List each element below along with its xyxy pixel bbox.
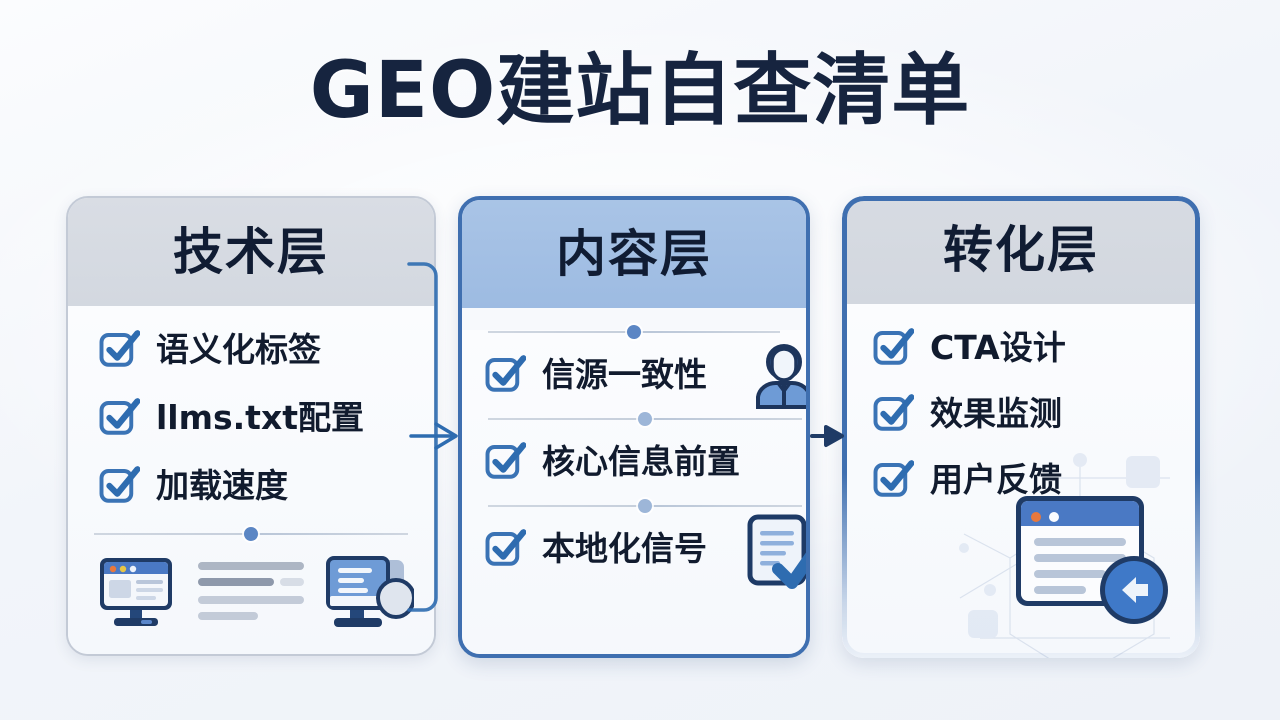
checklist-item[interactable]: 核心信息前置 xyxy=(484,440,806,482)
checklist-item-label: 信源一致性 xyxy=(542,358,707,391)
text-lines-icon xyxy=(198,560,308,622)
divider-dot xyxy=(627,325,641,339)
card-tech-divider xyxy=(94,532,408,535)
card-content-title: 内容层 xyxy=(556,229,712,279)
browser-monitor-icon xyxy=(94,554,178,634)
divider-dot xyxy=(638,499,652,513)
card-tech-illustrations xyxy=(94,550,414,636)
checklist-item[interactable]: 语义化标签 xyxy=(98,328,434,370)
card-content-body: 信源一致性 xyxy=(462,330,806,658)
checkbox-checked-icon[interactable] xyxy=(98,396,140,438)
checkbox-checked-icon[interactable] xyxy=(484,440,526,482)
document-check-icon xyxy=(744,513,810,593)
checklist-item[interactable]: 效果监测 xyxy=(872,392,1200,434)
checklist-item-label: 核心信息前置 xyxy=(542,445,740,478)
page-title-wrap: GEO建站自查清单 xyxy=(0,52,1280,130)
checklist-item-label: 本地化信号 xyxy=(542,532,707,565)
checklist-item[interactable]: 本地化信号 xyxy=(484,527,806,569)
checkbox-checked-icon[interactable] xyxy=(98,328,140,370)
checklist-item-label: 效果监测 xyxy=(930,397,1062,430)
cards-row: 技术层 语义化标签 llms.txt配置 xyxy=(0,196,1280,666)
checkbox-checked-icon[interactable] xyxy=(98,464,140,506)
card-conversion-title: 转化层 xyxy=(943,225,1099,275)
checkbox-checked-icon[interactable] xyxy=(484,353,526,395)
checklist-item-label: 语义化标签 xyxy=(156,333,321,366)
divider-dot xyxy=(638,412,652,426)
card-conversion-body: CTA设计 效果监测 用户反馈 xyxy=(842,304,1200,658)
card-conversion-layer[interactable]: 转化层 CTA设计 效果监测 xyxy=(842,196,1200,658)
checklist-item[interactable]: CTA设计 xyxy=(872,326,1200,368)
card-conversion-header: 转化层 xyxy=(842,196,1200,304)
checklist-item[interactable]: 加载速度 xyxy=(98,464,434,506)
checkbox-checked-icon[interactable] xyxy=(872,392,914,434)
card-tech-layer[interactable]: 技术层 语义化标签 llms.txt配置 xyxy=(66,196,436,656)
checklist-item[interactable]: 用户反馈 xyxy=(872,458,1200,500)
card-content-layer[interactable]: 内容层 信源一致性 xyxy=(458,196,810,658)
card-content-items: 信源一致性 xyxy=(462,347,806,569)
card-tech-items: 语义化标签 llms.txt配置 加载速度 xyxy=(68,306,434,506)
checklist-item-label: llms.txt配置 xyxy=(156,401,364,434)
document-monitor-shield-icon xyxy=(322,552,414,634)
card-tech-body: 语义化标签 llms.txt配置 加载速度 xyxy=(68,306,434,654)
card-tech-header: 技术层 xyxy=(68,198,434,306)
checklist-item-label: 加载速度 xyxy=(156,469,288,502)
checkbox-checked-icon[interactable] xyxy=(872,326,914,368)
card-content-header: 内容层 xyxy=(462,200,806,308)
card-conversion-items: CTA设计 效果监测 用户反馈 xyxy=(842,304,1200,500)
card-content-divider-1 xyxy=(488,330,780,333)
card-tech-title: 技术层 xyxy=(173,227,329,277)
checklist-item-label: 用户反馈 xyxy=(930,463,1062,496)
divider-dot xyxy=(244,527,258,541)
checklist-item-label: CTA设计 xyxy=(930,331,1066,364)
user-person-icon xyxy=(748,341,810,413)
page-title: GEO建站自查清单 xyxy=(310,52,971,130)
checklist-item[interactable]: llms.txt配置 xyxy=(98,396,434,438)
card-content-divider-3 xyxy=(488,504,802,507)
card-content-divider-2 xyxy=(488,417,802,420)
checklist-item[interactable]: 信源一致性 xyxy=(484,353,806,395)
checkbox-checked-icon[interactable] xyxy=(872,458,914,500)
checkbox-checked-icon[interactable] xyxy=(484,527,526,569)
